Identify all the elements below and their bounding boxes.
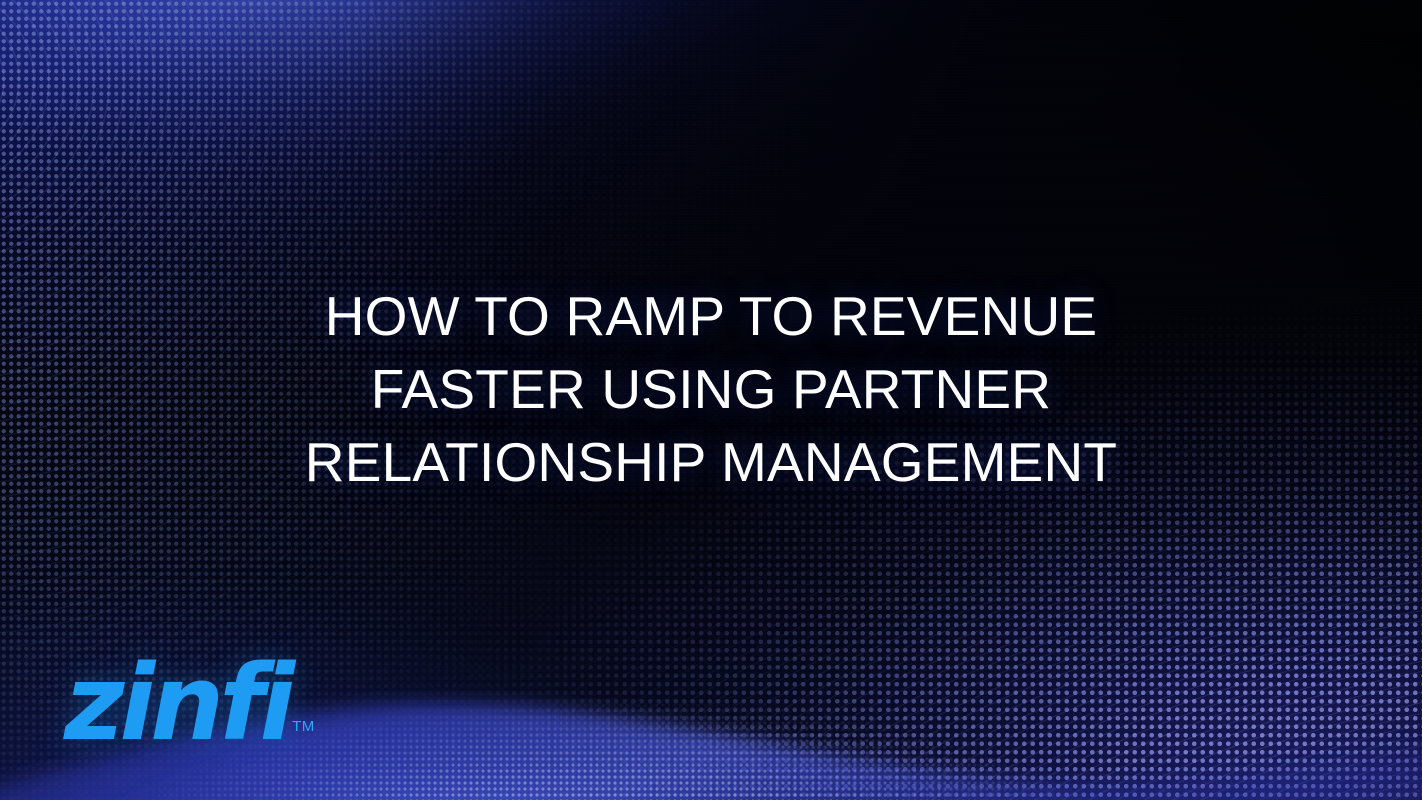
zinfi-wordmark: zinfi — [64, 661, 290, 746]
slide-content: HOW TO RAMP TO REVENUE FASTER USING PART… — [0, 0, 1422, 800]
title-slide: HOW TO RAMP TO REVENUE FASTER USING PART… — [0, 0, 1422, 800]
title-line-3: RELATIONSHIP MANAGEMENT — [120, 426, 1302, 499]
page-title: HOW TO RAMP TO REVENUE FASTER USING PART… — [0, 280, 1422, 499]
title-line-2: FASTER USING PARTNER — [120, 353, 1302, 426]
zinfi-logo: zinfi TM — [64, 661, 315, 746]
trademark-symbol: TM — [292, 719, 315, 734]
title-line-1: HOW TO RAMP TO REVENUE — [120, 280, 1302, 353]
